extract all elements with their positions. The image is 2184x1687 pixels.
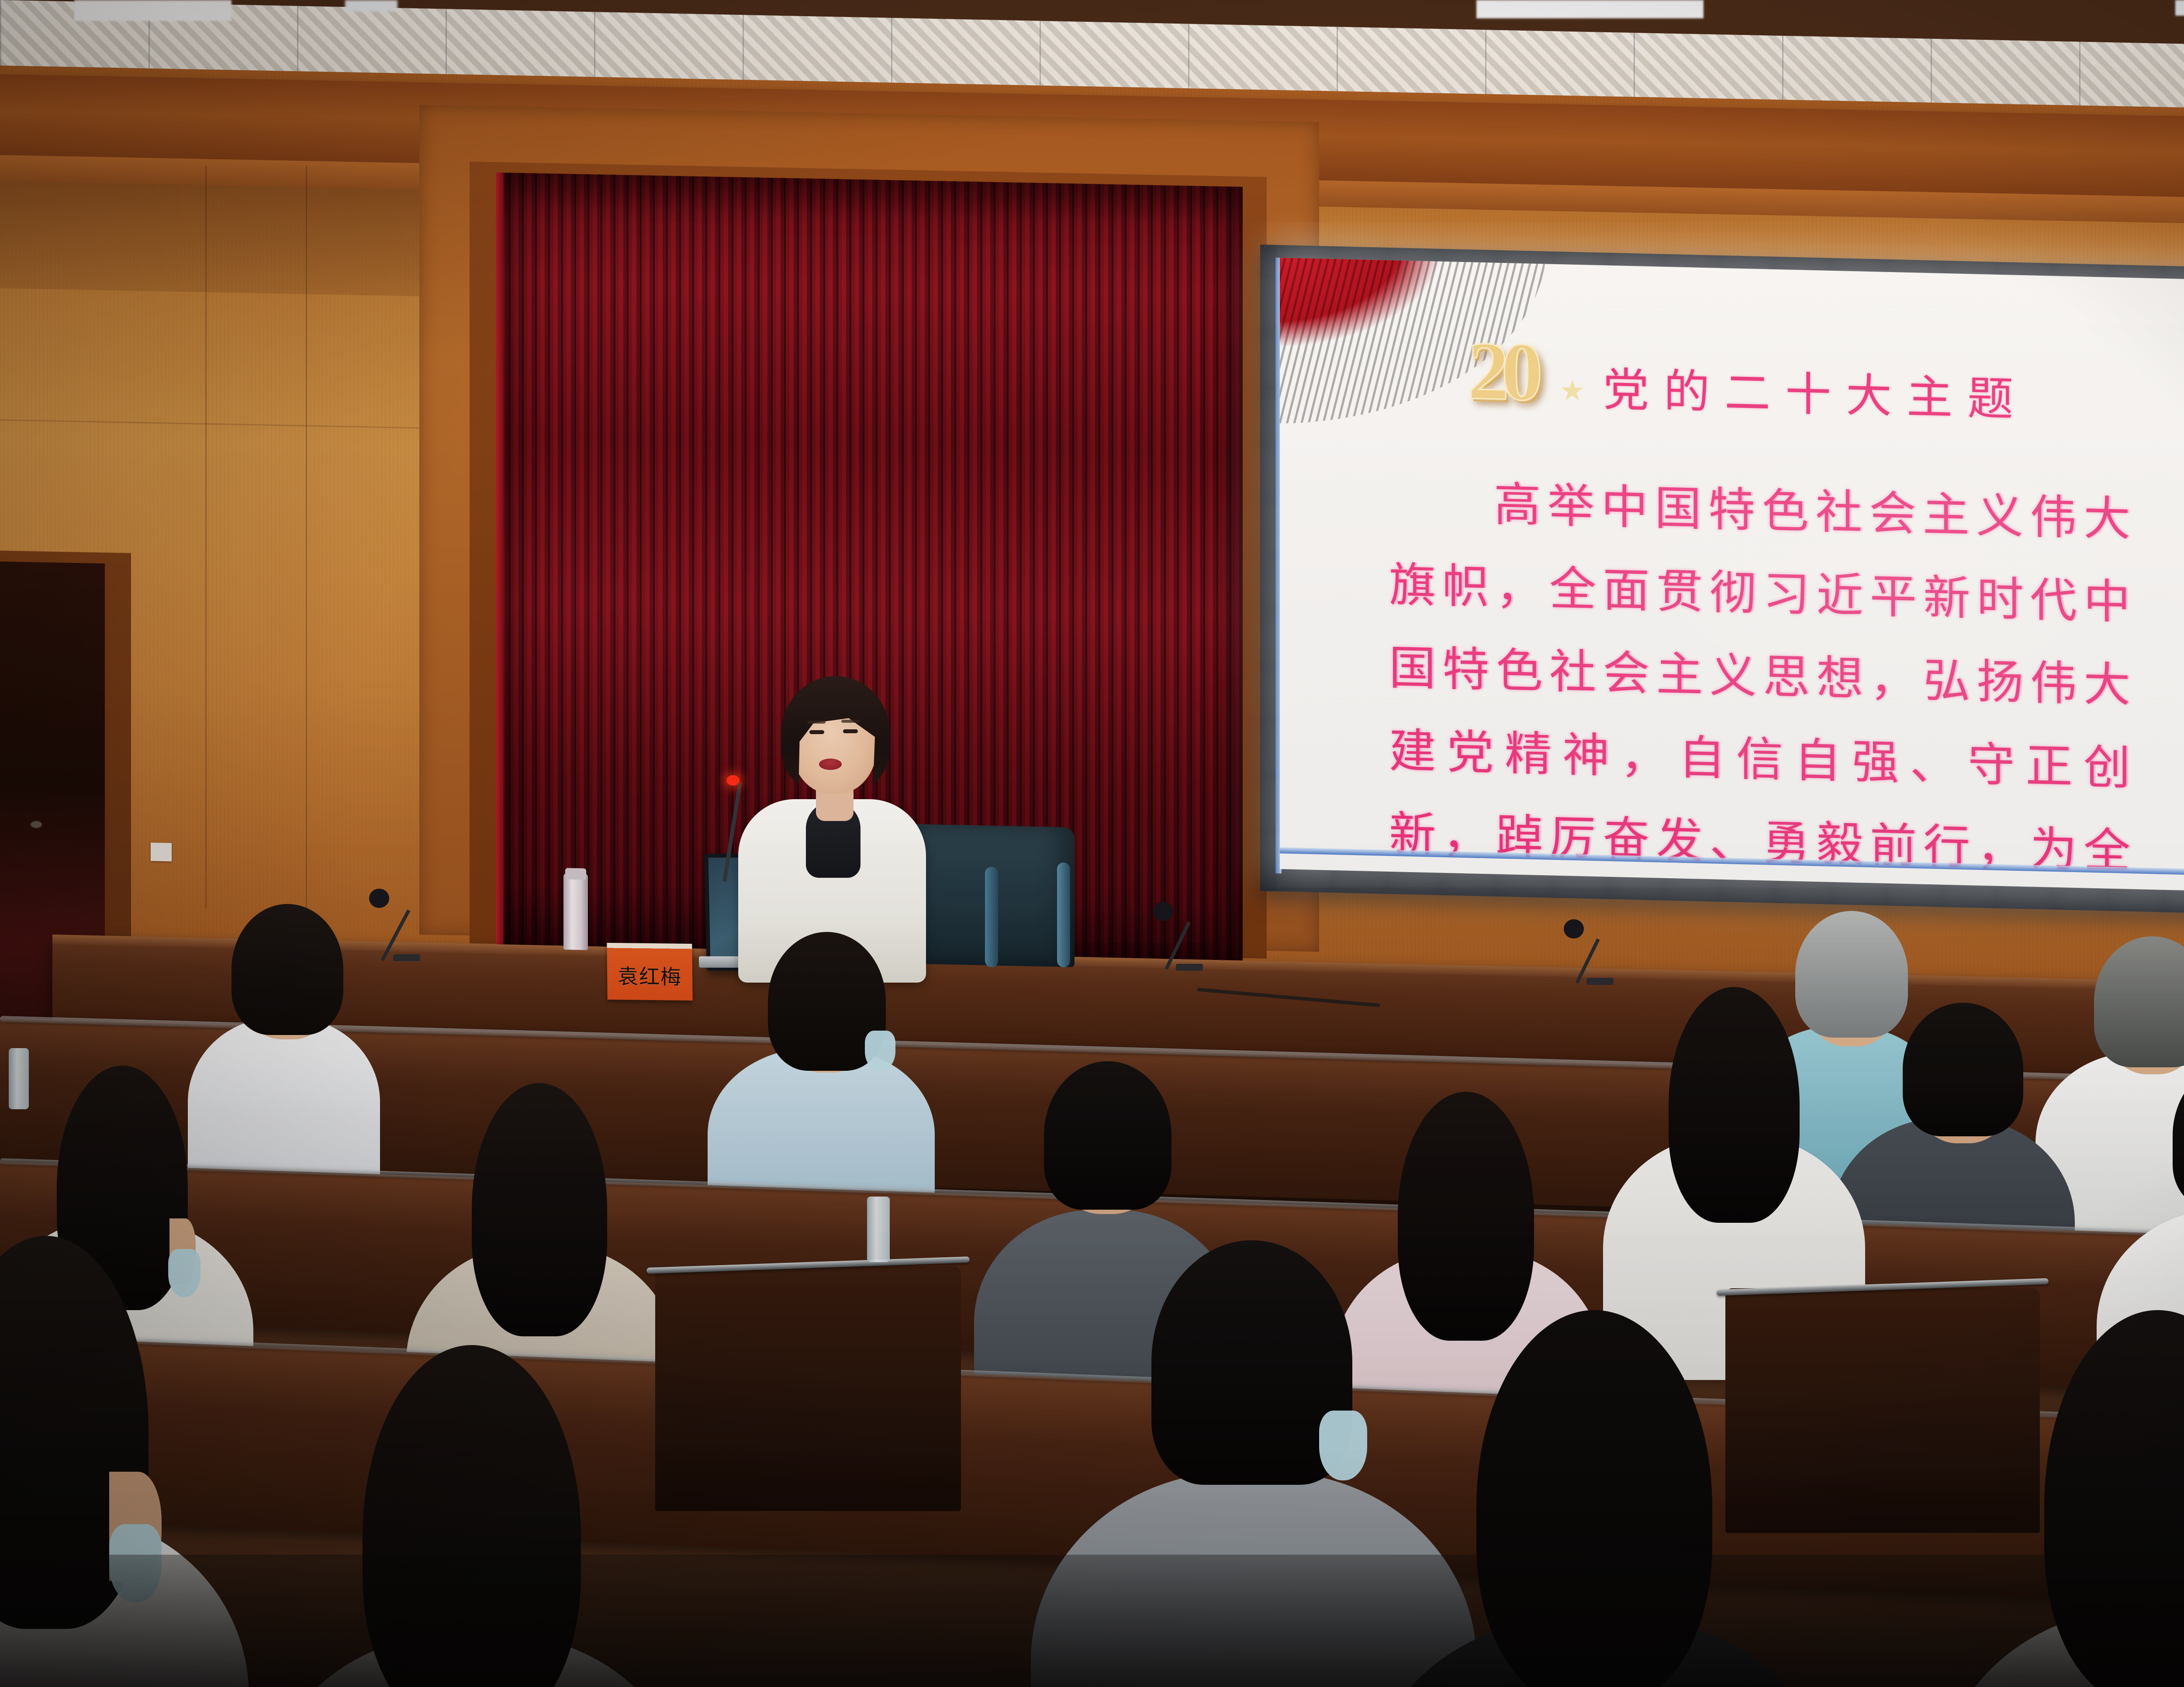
ceiling-light <box>345 0 397 11</box>
ceiling-light <box>1476 0 1704 18</box>
ceiling-light <box>74 0 232 21</box>
water-bottle[interactable] <box>9 1048 29 1109</box>
water-bottle[interactable] <box>867 1197 890 1262</box>
projection-screen[interactable]: 20 ★ 党的二十大主题 高举中国特色社会主义伟大旗帜，全面贯彻习近平新时代中国… <box>1280 258 2184 900</box>
presenter-eye <box>843 729 858 733</box>
presenter-eyebrow <box>807 721 826 724</box>
foreground-shadow <box>0 1555 2184 1687</box>
name-card: 袁红梅 <box>607 943 692 1000</box>
chair-armrest <box>985 867 998 968</box>
seat-back <box>1725 1288 2040 1533</box>
wall-joint <box>205 166 207 908</box>
slide-body-text: 高举中国特色社会主义伟大旗帜，全面贯彻习近平新时代中国特色社会主义思想，弘扬伟大… <box>1389 461 2136 900</box>
door-handle-icon[interactable] <box>31 821 42 828</box>
name-card-label: 袁红梅 <box>618 959 682 990</box>
chair-armrest <box>1057 862 1070 968</box>
microphone-active-led-icon <box>726 775 740 786</box>
presenter-mouth <box>819 759 842 770</box>
wall-joint <box>306 166 307 908</box>
star-icon: ★ <box>1559 373 1585 407</box>
water-bottle[interactable] <box>563 873 588 950</box>
presenter-eye <box>809 730 824 734</box>
ceiling-light <box>2175 0 2184 16</box>
congress-20-logo: 20 <box>1468 323 1535 420</box>
presenter-eyebrow <box>841 720 860 723</box>
light-switch[interactable] <box>151 843 172 862</box>
slide-title: 党的二十大主题 <box>1603 352 2028 429</box>
seat-back <box>655 1266 961 1511</box>
bottle-cap <box>565 868 586 880</box>
curtain-edge <box>496 172 504 950</box>
photo-scene: 20 ★ 党的二十大主题 高举中国特色社会主义伟大旗帜，全面贯彻习近平新时代中国… <box>0 0 2184 1687</box>
